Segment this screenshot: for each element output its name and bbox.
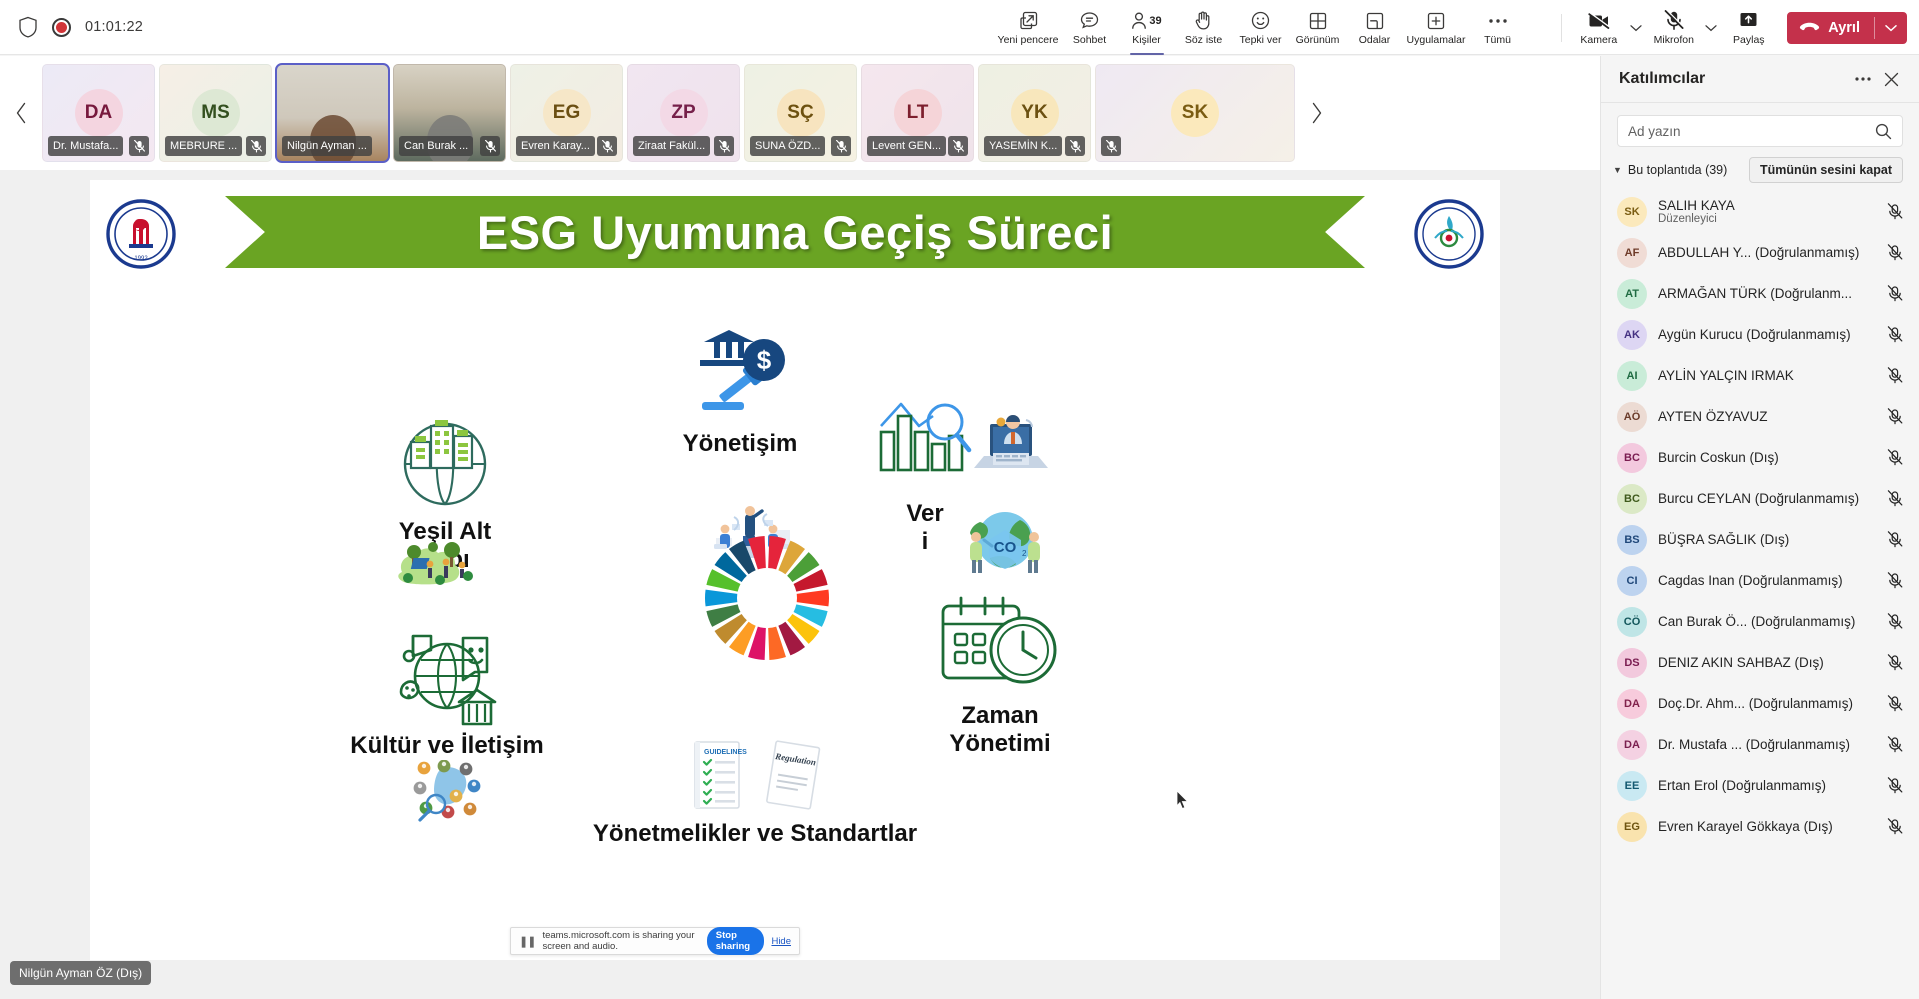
tile-name-label: SUNA ÖZD... (750, 136, 825, 156)
avatar: SK (1171, 89, 1219, 137)
svg-text:2: 2 (1022, 549, 1027, 558)
participant-role: Düzenleyici (1658, 213, 1874, 225)
participant-row[interactable]: EEErtan Erol (Doğrulanmamış) (1601, 765, 1919, 806)
people-count: 39 (1149, 15, 1161, 27)
raise-hand-label: Söz iste (1185, 34, 1222, 46)
participant-row[interactable]: CICagdas Inan (Doğrulanmamış) (1601, 560, 1919, 601)
reactions-button[interactable]: Tepki ver (1232, 0, 1289, 55)
group-collapse-triangle-icon[interactable]: ▼ (1613, 165, 1622, 175)
node-yonetmelikler-label: Yönetmelikler ve Standartlar (593, 820, 917, 848)
avatar: AF (1617, 238, 1647, 268)
share-button[interactable]: Paylaş (1720, 0, 1777, 55)
avatar: DA (1617, 730, 1647, 760)
pause-icon: ❚❚ (519, 935, 535, 948)
leave-label: Ayrıl (1828, 20, 1860, 36)
view-label: Görünüm (1296, 34, 1340, 46)
university-secondary-logo (1413, 198, 1485, 270)
participants-search-box[interactable] (1617, 115, 1903, 147)
avatar: AÖ (1617, 402, 1647, 432)
canakkale-onsekiz-mart-universitesi-logo: 1992 (105, 198, 177, 270)
microphone-muted-icon[interactable] (1885, 490, 1905, 507)
node-yonetisim-label: Yönetişim (683, 430, 798, 458)
participant-name: Burcu CEYLAN (Doğrulanmamış) (1658, 491, 1874, 506)
hide-share-bar-link[interactable]: Hide (771, 936, 791, 947)
participants-panel-title: Katılımcılar (1619, 70, 1849, 88)
participant-name: Cagdas Inan (Doğrulanmamış) (1658, 573, 1874, 588)
screen-share-notification-bar: ❚❚ teams.microsoft.com is sharing your s… (510, 927, 800, 955)
raise-hand-icon (1194, 10, 1213, 32)
participant-name: Burcin Coskun (Dış) (1658, 450, 1874, 465)
participant-name: DENIZ AKIN SAHBAZ (Dış) (1658, 655, 1874, 670)
camera-label: Kamera (1580, 34, 1617, 46)
participant-info: ARMAĞAN TÜRK (Doğrulanm... (1658, 286, 1874, 301)
chat-icon (1079, 10, 1100, 32)
avatar: CI (1617, 566, 1647, 596)
camera-off-icon (1587, 10, 1611, 32)
laptop-support-illustration (968, 410, 1054, 476)
participant-name: Evren Karayel Gökkaya (Dış) (1658, 819, 1874, 834)
presenter-name-chip: Nilgün Ayman ÖZ (Dış) (10, 961, 151, 985)
avatar: EG (1617, 812, 1647, 842)
participant-row[interactable]: AIAYLİN YALÇIN IRMAK (1601, 355, 1919, 396)
tile-name-label: Dr. Mustafa... (48, 136, 123, 156)
participant-info: Can Burak Ö... (Doğrulanmamış) (1658, 614, 1874, 629)
avatar: AK (1617, 320, 1647, 350)
new-window-icon (1018, 10, 1039, 32)
camera-options-chevron-down-icon[interactable] (1627, 0, 1645, 55)
filmstrip-tile[interactable]: Nilgün Ayman ... (276, 64, 389, 162)
shield-icon (18, 16, 38, 38)
filmstrip-next-chevron-right-icon[interactable] (1295, 56, 1337, 170)
people-network-illustration (412, 760, 498, 822)
toolbar-left-group: 01:01:22 (0, 16, 143, 38)
avatar: DS (1617, 648, 1647, 678)
toolbar-divider (1561, 14, 1562, 42)
more-button[interactable]: Tümü (1469, 0, 1526, 55)
participant-name: Doç.Dr. Ahm... (Doğrulanmamış) (1658, 696, 1874, 711)
participant-row[interactable]: BSBÜŞRA SAĞLIK (Dış) (1601, 519, 1919, 560)
avatar: DA (75, 89, 123, 137)
slide-header: 1992 ESG Uyumuna Geçiş Süreci (90, 190, 1500, 280)
participant-row[interactable]: SKSALIH KAYADüzenleyici (1601, 191, 1919, 232)
node-veri-label: Ver i (906, 500, 943, 557)
avatar: AT (1617, 279, 1647, 309)
avatar: BS (1617, 525, 1647, 555)
time-management-icon (937, 592, 1063, 692)
node-yonetisim: $ Yönetişim (630, 330, 850, 458)
avatar: MS (192, 89, 240, 137)
shared-content-stage: 1992 ESG Uyumuna Geçiş Süreci (0, 170, 1600, 999)
search-icon[interactable] (1875, 123, 1892, 140)
microphone-muted-icon (948, 136, 968, 156)
apps-button[interactable]: Uygulamalar (1403, 0, 1469, 55)
green-infrastructure-icon (393, 410, 497, 510)
microphone-muted-icon[interactable] (1885, 572, 1905, 589)
microphone-muted-icon[interactable] (1885, 613, 1905, 630)
raise-hand-button[interactable]: Söz iste (1175, 0, 1232, 55)
new-window-button[interactable]: Yeni pencere (995, 0, 1061, 55)
leave-options-chevron-down-icon[interactable] (1875, 24, 1907, 32)
culture-communication-icon (397, 630, 497, 726)
stop-sharing-button[interactable]: Stop sharing (707, 927, 765, 955)
filmstrip-tile[interactable]: SK (1095, 64, 1295, 162)
participants-group-row: ▼ Bu toplantıda (39) Tümünün sesini kapa… (1601, 155, 1919, 189)
participant-row[interactable]: EGEvren Karayel Gökkaya (Dış) (1601, 806, 1919, 847)
microphone-muted-icon[interactable] (1885, 654, 1905, 671)
participant-name: ABDULLAH Y... (Doğrulanmamış) (1658, 245, 1874, 260)
participant-name: ARMAĞAN TÜRK (Doğrulanm... (1658, 286, 1874, 301)
microphone-muted-icon[interactable] (1885, 818, 1905, 835)
plus-box-icon (1426, 10, 1446, 32)
filmstrip-tile[interactable]: ZPZiraat Fakül... (627, 64, 740, 162)
rooms-label: Odalar (1359, 34, 1391, 46)
participant-name: Ertan Erol (Doğrulanmamış) (1658, 778, 1874, 793)
microphone-muted-icon[interactable] (1885, 777, 1905, 794)
participant-name: Dr. Mustafa ... (Doğrulanmamış) (1658, 737, 1874, 752)
avatar: SÇ (777, 89, 825, 137)
sdg-segment (797, 590, 829, 607)
avatar: SK (1617, 197, 1647, 227)
tile-name-label: MEBRURE ... (165, 136, 242, 156)
participant-row[interactable]: BCBurcin Coskun (Dış) (1601, 437, 1919, 478)
data-analytics-icon (877, 390, 973, 476)
filmstrip-tile[interactable]: DADr. Mustafa... (42, 64, 155, 162)
tile-name-label: Ziraat Fakül... (633, 136, 710, 156)
toolbar-actions: Yeni pencere Sohbet 39 Kişiler Söz (995, 0, 1526, 55)
share-screen-icon (1738, 10, 1759, 32)
panel-close-icon[interactable] (1877, 65, 1905, 93)
participant-info: BÜŞRA SAĞLIK (Dış) (1658, 532, 1874, 547)
microphone-muted-icon[interactable] (1885, 285, 1905, 302)
svg-text:GUIDELINES: GUIDELINES (704, 749, 747, 756)
participant-row[interactable]: AKAygün Kurucu (Doğrulanmamış) (1601, 314, 1919, 355)
participants-panel-header: Katılımcılar (1601, 56, 1919, 102)
microphone-muted-icon (714, 136, 734, 156)
microphone-label: Mikrofon (1654, 34, 1694, 46)
avatar: AI (1617, 361, 1647, 391)
microphone-muted-icon (597, 136, 617, 156)
participant-row[interactable]: AFABDULLAH Y... (Doğrulanmamış) (1601, 232, 1919, 273)
meeting-toolbar: 01:01:22 Yeni pencere Sohbet 39 (0, 0, 1919, 55)
smiley-icon (1250, 10, 1271, 32)
avatar: BC (1617, 443, 1647, 473)
microphone-muted-icon (831, 136, 851, 156)
chat-label: Sohbet (1073, 34, 1106, 46)
grid-icon (1308, 10, 1328, 32)
record-indicator-icon (52, 18, 71, 37)
participant-name: AYLİN YALÇIN IRMAK (1658, 368, 1874, 383)
node-zaman-yonetimi: Zaman Yönetimi (890, 592, 1110, 759)
participant-row[interactable]: DADr. Mustafa ... (Doğrulanmamış) (1601, 724, 1919, 765)
participant-info: Burcin Coskun (Dış) (1658, 450, 1874, 465)
avatar: EE (1617, 771, 1647, 801)
rooms-icon (1365, 10, 1385, 32)
people-icon: 39 (1131, 10, 1161, 32)
participant-row[interactable]: ATARMAĞAN TÜRK (Doğrulanm... (1601, 273, 1919, 314)
microphone-muted-icon (129, 136, 149, 156)
participants-search-wrap (1601, 103, 1919, 155)
camera-button[interactable]: Kamera (1570, 0, 1627, 55)
node-sdg-wheel (652, 532, 882, 664)
co2-earth-illustration: CO 2 (958, 508, 1052, 578)
filmstrip-tile[interactable]: SÇSUNA ÖZD... (744, 64, 857, 162)
microphone-muted-icon[interactable] (1885, 449, 1905, 466)
participant-name: SALIH KAYA (1658, 198, 1874, 213)
filmstrip-tile[interactable]: YKYASEMİN K... (978, 64, 1091, 162)
node-yonetmelikler: GUIDELINES (540, 740, 970, 848)
participant-info: AYTEN ÖZYAVUZ (1658, 409, 1874, 424)
participant-name: AYTEN ÖZYAVUZ (1658, 409, 1874, 424)
microphone-muted-icon[interactable] (1885, 203, 1905, 220)
participant-row[interactable]: CÖCan Burak Ö... (Doğrulanmamış) (1601, 601, 1919, 642)
slide-title-banner: ESG Uyumuna Geçiş Süreci (225, 196, 1365, 268)
mute-all-button[interactable]: Tümünün sesini kapat (1749, 157, 1903, 183)
mic-options-chevron-down-icon[interactable] (1702, 0, 1720, 55)
node-kultur-iletisim-label: Kültür ve İletişim (350, 732, 543, 760)
microphone-muted-icon[interactable] (1885, 408, 1905, 425)
participant-name: Can Burak Ö... (Doğrulanmamış) (1658, 614, 1874, 629)
slide-title: ESG Uyumuna Geçiş Süreci (477, 205, 1113, 260)
filmstrip-tile[interactable]: LTLevent GEN... (861, 64, 974, 162)
regulation-doc-illustration: Regulation (761, 740, 825, 812)
participant-info: Doç.Dr. Ahm... (Doğrulanmamış) (1658, 696, 1874, 711)
node-kultur-iletisim: Kültür ve İletişim (332, 630, 562, 760)
filmstrip-tiles: DADr. Mustafa...MSMEBRURE ...Nilgün Ayma… (42, 64, 1295, 162)
apps-label: Uygulamalar (1407, 34, 1466, 46)
filmstrip-tile[interactable]: EGEvren Karay... (510, 64, 623, 162)
chat-button[interactable]: Sohbet (1061, 0, 1118, 55)
toolbar-device-group: Kamera Mikrofon Paylaş (1553, 0, 1907, 55)
participants-panel: Katılımcılar ▼ Bu toplantıda (39) Tümünü… (1600, 56, 1919, 999)
tile-name-label: YASEMİN K... (984, 136, 1062, 156)
microphone-muted-icon[interactable] (1885, 531, 1905, 548)
participant-name: BÜŞRA SAĞLIK (Dış) (1658, 532, 1874, 547)
share-label: Paylaş (1733, 34, 1765, 46)
avatar: EG (543, 89, 591, 137)
sdg-segment (705, 590, 737, 607)
microphone-muted-icon (1065, 136, 1085, 156)
participant-info: Dr. Mustafa ... (Doğrulanmamış) (1658, 737, 1874, 752)
hangup-icon (1799, 21, 1820, 34)
people-label: Kişiler (1132, 34, 1161, 46)
microphone-muted-icon[interactable] (1885, 736, 1905, 753)
tile-name-label: Levent GEN... (867, 136, 946, 156)
participant-row[interactable]: AÖAYTEN ÖZYAVUZ (1601, 396, 1919, 437)
microphone-muted-icon[interactable] (1885, 244, 1905, 261)
filmstrip-prev-chevron-left-icon[interactable] (0, 56, 42, 170)
microphone-muted-icon (480, 136, 500, 156)
leave-meeting-button[interactable]: Ayrıl (1787, 12, 1907, 44)
panel-more-ellipsis-icon[interactable] (1849, 65, 1877, 93)
green-park-illustration (392, 532, 482, 598)
tile-name-label: Evren Karay... (516, 136, 595, 156)
new-window-label: Yeni pencere (998, 34, 1059, 46)
participant-info: Evren Karayel Gökkaya (Dış) (1658, 819, 1874, 834)
participant-info: ABDULLAH Y... (Doğrulanmamış) (1658, 245, 1874, 260)
participant-info: Cagdas Inan (Doğrulanmamış) (1658, 573, 1874, 588)
microphone-muted-icon (1101, 136, 1121, 156)
mouse-cursor (1176, 790, 1189, 809)
participants-list[interactable]: SKSALIH KAYADüzenleyiciAFABDULLAH Y... (… (1601, 189, 1919, 999)
rooms-button[interactable]: Odalar (1346, 0, 1403, 55)
participant-info: Burcu CEYLAN (Doğrulanmamış) (1658, 491, 1874, 506)
participant-filmstrip: DADr. Mustafa...MSMEBRURE ...Nilgün Ayma… (0, 56, 1600, 170)
ellipsis-icon (1487, 10, 1509, 32)
participant-row[interactable]: DADoç.Dr. Ahm... (Doğrulanmamış) (1601, 683, 1919, 724)
filmstrip-tile[interactable]: Can Burak ... (393, 64, 506, 162)
presentation-slide: 1992 ESG Uyumuna Geçiş Süreci (90, 180, 1500, 960)
avatar: ZP (660, 89, 708, 137)
reactions-label: Tepki ver (1239, 34, 1281, 46)
avatar: BC (1617, 484, 1647, 514)
avatar: LT (894, 89, 942, 137)
svg-text:1992: 1992 (134, 256, 148, 262)
governance-gavel-icon: $ (692, 330, 788, 426)
avatar: YK (1011, 89, 1059, 137)
participant-info: SALIH KAYADüzenleyici (1658, 198, 1874, 225)
guidelines-regulation-icon: GUIDELINES (685, 740, 825, 812)
group-label: Bu toplantıda (39) (1628, 163, 1743, 177)
svg-text:CO: CO (994, 539, 1017, 556)
microphone-muted-icon (246, 136, 266, 156)
microphone-muted-icon[interactable] (1885, 695, 1905, 712)
filmstrip-tile[interactable]: MSMEBRURE ... (159, 64, 272, 162)
participant-row[interactable]: DSDENIZ AKIN SAHBAZ (Dış) (1601, 642, 1919, 683)
people-button[interactable]: 39 Kişiler (1118, 0, 1175, 55)
microphone-muted-icon[interactable] (1885, 326, 1905, 343)
search-input[interactable] (1628, 124, 1867, 139)
participant-info: Ertan Erol (Doğrulanmamış) (1658, 778, 1874, 793)
microphone-button[interactable]: Mikrofon (1645, 0, 1702, 55)
microphone-muted-icon[interactable] (1885, 367, 1905, 384)
more-label: Tümü (1484, 34, 1511, 46)
participant-info: AYLİN YALÇIN IRMAK (1658, 368, 1874, 383)
participant-row[interactable]: BCBurcu CEYLAN (Doğrulanmamış) (1601, 478, 1919, 519)
svg-text:$: $ (757, 345, 772, 375)
avatar: DA (1617, 689, 1647, 719)
participant-info: DENIZ AKIN SAHBAZ (Dış) (1658, 655, 1874, 670)
guidelines-doc-illustration: GUIDELINES (685, 740, 747, 812)
meeting-timer: 01:01:22 (85, 19, 143, 35)
tile-name-label: Nilgün Ayman ... (282, 136, 372, 156)
sdg-wheel-icon (701, 532, 833, 664)
microphone-off-icon (1664, 10, 1684, 32)
slide-canvas: Yeşil Alt Yapı (90, 280, 1500, 960)
view-button[interactable]: Görünüm (1289, 0, 1346, 55)
share-message: teams.microsoft.com is sharing your scre… (542, 930, 699, 952)
participant-info: Aygün Kurucu (Doğrulanmamış) (1658, 327, 1874, 342)
participant-name: Aygün Kurucu (Doğrulanmamış) (1658, 327, 1874, 342)
avatar: CÖ (1617, 607, 1647, 637)
tile-name-label: Can Burak ... (399, 136, 473, 156)
